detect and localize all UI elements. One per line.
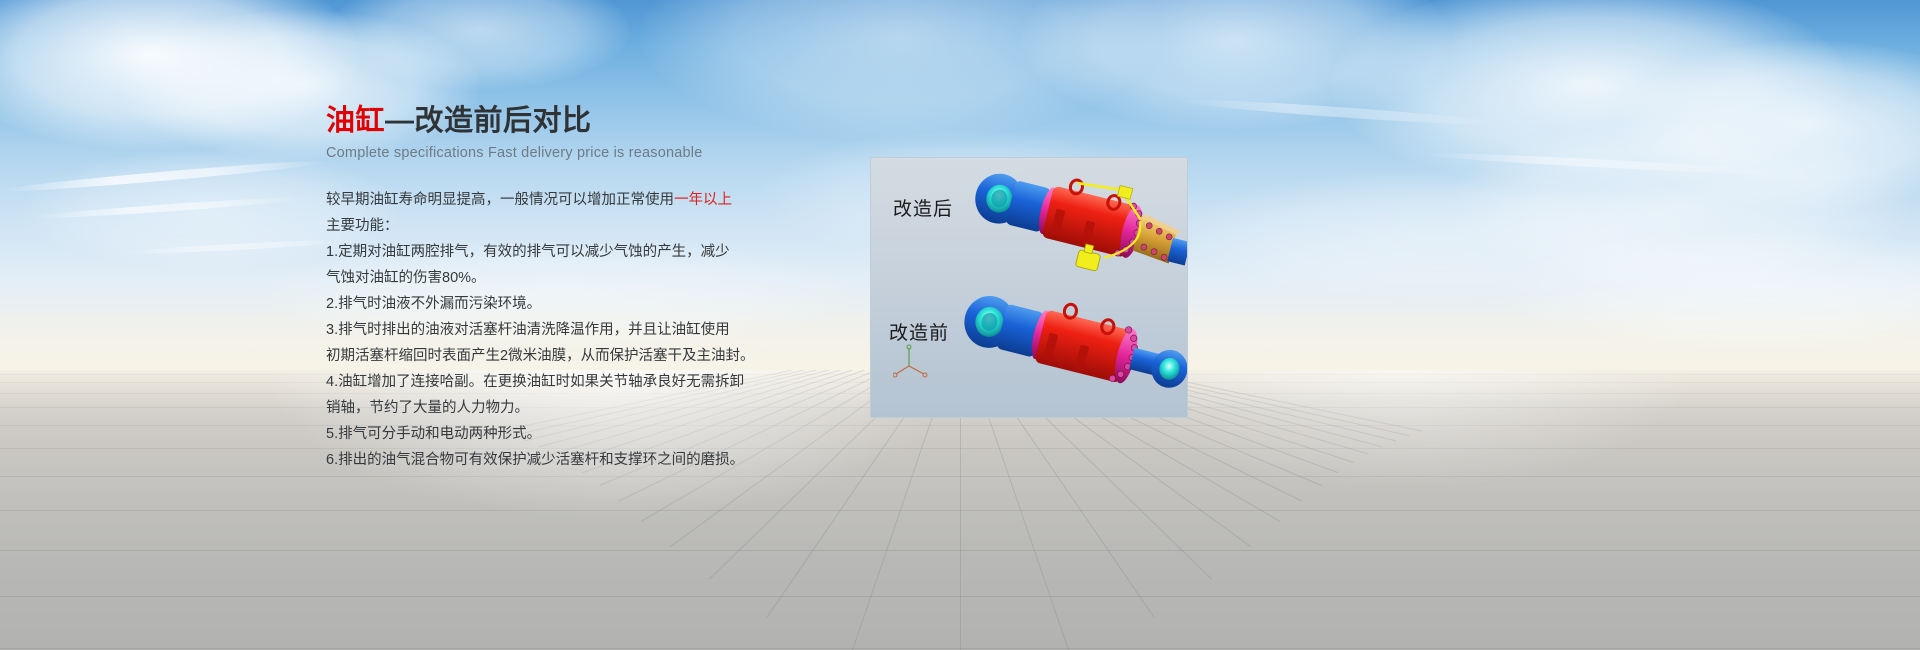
label-before-modification: 改造前 <box>889 318 949 345</box>
feature-line: 1.定期对油缸两腔排气，有效的排气可以减少气蚀的产生，减少 <box>326 239 866 265</box>
promo-banner: 油缸—改造前后对比 Complete specifications Fast d… <box>0 0 1920 650</box>
banner-content: 油缸—改造前后对比 Complete specifications Fast d… <box>326 104 866 473</box>
cloud-streak <box>120 237 360 256</box>
intro-lead-highlight: 一年以上 <box>674 192 732 208</box>
feature-line: 3.排气时排出的油液对活塞杆油清洗降温作用，并且让油缸使用 <box>326 317 866 343</box>
cloud-streak <box>30 194 310 221</box>
page-title-highlight: 油缸 <box>326 105 385 137</box>
feature-line: 销轴，节约了大量的人力物力。 <box>326 395 866 421</box>
cloud-streak <box>1420 150 1780 177</box>
coordinate-axis-icon <box>893 344 929 378</box>
cloud-shape <box>1180 170 1700 300</box>
page-subtitle: Complete specifications Fast delivery pr… <box>326 145 866 161</box>
intro-lead: 较早期油缸寿命明显提高，一般情况可以增加正常使用一年以上 <box>326 187 866 213</box>
feature-description: 较早期油缸寿命明显提高，一般情况可以增加正常使用一年以上 主要功能： 1.定期对… <box>326 187 866 473</box>
feature-line: 气蚀对油缸的伤害80%。 <box>326 265 866 291</box>
cloud-streak <box>0 157 329 195</box>
page-title-rest: —改造前后对比 <box>385 105 592 137</box>
intro-heading: 主要功能： <box>326 213 866 239</box>
cloud-shape <box>0 0 360 150</box>
cylinder-after-modification <box>961 166 1188 286</box>
cloud-shape <box>330 0 630 90</box>
feature-line: 4.油缸增加了连接哈副。在更换油缸时如果关节轴承良好无需拆卸 <box>326 369 866 395</box>
cloud-shape <box>1020 0 1450 130</box>
cloud-shape <box>1500 230 1920 350</box>
feature-line: 2.排气时油液不外漏而污染环境。 <box>326 291 866 317</box>
cloud-streak <box>1180 96 1500 128</box>
cylinder-before-modification <box>949 286 1188 414</box>
feature-line: 6.排出的油气混合物可有效保护减少活塞杆和支撑环之间的磨损。 <box>326 447 866 473</box>
cloud-shape <box>1620 40 1920 210</box>
ground-glare <box>1100 370 1700 490</box>
product-comparison-image: 改造后 改造前 <box>870 157 1188 418</box>
feature-line: 5.排气可分手动和电动两种形式。 <box>326 421 866 447</box>
cloud-shape <box>1450 120 1910 290</box>
feature-line: 初期活塞杆缩回时表面产生2微米油膜，从而保护活塞干及主油封。 <box>326 343 866 369</box>
cloud-shape <box>1330 0 1850 190</box>
label-after-modification: 改造后 <box>893 194 953 221</box>
page-title: 油缸—改造前后对比 <box>326 104 866 139</box>
intro-lead-text: 较早期油缸寿命明显提高，一般情况可以增加正常使用 <box>326 192 674 208</box>
